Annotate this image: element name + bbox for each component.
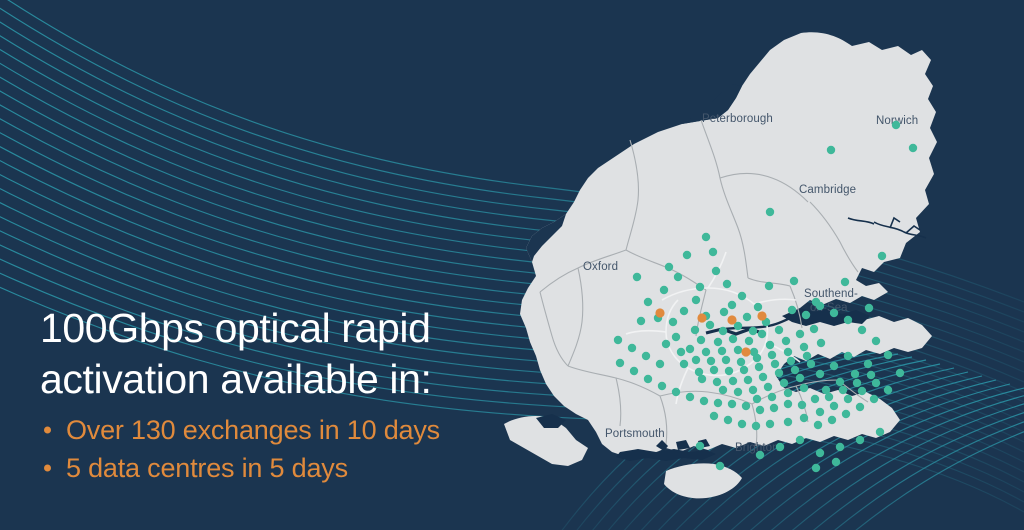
exchange-marker [738,292,746,300]
exchange-marker [644,375,652,383]
exchange-marker [710,412,718,420]
exchange-marker [817,339,825,347]
exchange-marker [844,395,852,403]
exchange-marker [796,436,804,444]
exchange-marker [766,208,774,216]
exchange-marker [749,327,757,335]
exchange-marker [858,387,866,395]
exchange-marker [800,414,808,422]
list-item-label: 5 data centres in 5 days [66,453,348,483]
exchange-marker [753,354,761,362]
exchange-marker [722,356,730,364]
exchange-marker [706,321,714,329]
exchange-marker [742,402,750,410]
datacentre-marker [727,315,736,324]
exchange-marker [702,233,710,241]
exchange-marker [800,384,808,392]
exchange-marker [737,358,745,366]
exchange-marker [839,386,847,394]
exchange-marker [800,343,808,351]
exchange-marker [884,386,892,394]
list-item: Over 130 exchanges in 10 days [40,411,510,449]
exchange-marker [825,393,833,401]
exchange-marker [784,348,792,356]
exchange-marker [700,397,708,405]
exchange-marker [876,428,884,436]
exchange-marker [656,360,664,368]
exchange-marker [803,352,811,360]
exchange-marker [686,345,694,353]
exchange-marker [698,375,706,383]
benefit-list: Over 130 exchanges in 10 days 5 data cen… [40,411,510,488]
exchange-marker [729,377,737,385]
exchange-marker [780,379,788,387]
uk-south-east-map: Peterborough Norwich Cambridge Oxford So… [470,0,1024,530]
datacentre-marker [697,313,706,322]
exchange-marker [744,376,752,384]
exchange-marker [892,121,900,129]
exchange-marker [856,436,864,444]
exchange-marker [807,360,815,368]
exchange-marker [816,449,824,457]
exchange-marker [764,383,772,391]
exchange-marker [766,341,774,349]
exchange-marker [768,351,776,359]
exchange-marker [616,359,624,367]
exchange-marker [658,382,666,390]
exchange-marker [734,346,742,354]
exchange-marker [828,416,836,424]
exchange-marker [709,248,717,256]
land-isle-of-wight [664,463,742,498]
exchange-marker [702,348,710,356]
exchange-marker [798,401,806,409]
map-label-southend: Southend- [804,288,858,300]
exchange-marker [738,420,746,428]
exchange-marker [770,404,778,412]
exchange-marker [814,421,822,429]
exchange-marker [810,325,818,333]
exchange-marker [745,337,753,345]
exchange-marker [844,316,852,324]
exchange-marker [752,422,760,430]
exchange-marker [864,360,872,368]
exchange-marker [628,344,636,352]
exchange-marker [811,395,819,403]
exchange-marker [865,304,873,312]
exchange-marker [784,400,792,408]
exchange-marker [743,313,751,321]
exchange-marker [660,286,668,294]
exchange-marker [768,393,776,401]
map-label-portsmouth: Portsmouth [605,428,665,440]
exchange-marker [816,370,824,378]
exchange-marker [734,388,742,396]
exchange-marker [723,280,731,288]
exchange-marker [766,420,774,428]
exchange-marker [692,356,700,364]
exchange-marker [842,410,850,418]
exchange-marker [796,330,804,338]
promo-copy-block: 100Gbps optical rapid activation availab… [40,303,510,487]
exchange-marker [782,337,790,345]
exchange-marker [830,362,838,370]
exchange-marker [755,363,763,371]
exchange-marker [630,367,638,375]
exchange-marker [771,360,779,368]
exchange-marker [718,347,726,355]
exchange-marker [858,326,866,334]
map-label-cambridge: Cambridge [799,184,856,196]
exchange-marker [754,303,762,311]
exchange-marker [644,298,652,306]
exchange-marker [637,317,645,325]
exchange-marker [816,302,824,310]
exchange-marker [697,336,705,344]
exchange-marker [680,307,688,315]
exchange-marker [710,366,718,374]
exchange-marker [686,393,694,401]
promo-banner: Peterborough Norwich Cambridge Oxford So… [0,0,1024,530]
exchange-marker [878,252,886,260]
map-label-peterborough: Peterborough [702,113,773,125]
exchange-marker [867,371,875,379]
exchange-marker [884,351,892,359]
exchange-marker [674,273,682,281]
exchange-marker [758,330,766,338]
exchange-marker [719,327,727,335]
exchange-marker [725,367,733,375]
bullet-dot-icon [44,465,51,472]
exchange-marker [756,451,764,459]
exchange-marker [765,282,773,290]
exchange-marker [816,408,824,416]
exchange-marker [830,309,838,317]
exchange-marker [787,357,795,365]
exchange-marker [707,357,715,365]
exchange-marker [851,370,859,378]
exchange-marker [728,400,736,408]
exchange-marker [677,348,685,356]
exchange-marker [753,395,761,403]
exchange-marker [909,144,917,152]
list-item: 5 data centres in 5 days [40,449,510,487]
exchange-marker [749,386,757,394]
exchange-marker [841,278,849,286]
map-landmass [504,32,937,498]
exchange-marker [784,418,792,426]
exchange-marker [713,378,721,386]
exchange-marker [776,443,784,451]
exchange-marker [836,443,844,451]
exchange-marker [788,306,796,314]
list-item-label: Over 130 exchanges in 10 days [66,415,440,445]
exchange-marker [714,399,722,407]
exchange-marker [714,338,722,346]
datacentre-marker [655,308,664,317]
exchange-marker [775,369,783,377]
exchange-marker [812,464,820,472]
exchange-marker [872,379,880,387]
datacentre-marker [741,347,750,356]
exchange-marker [784,389,792,397]
exchange-marker [719,386,727,394]
bullet-dot-icon [44,426,51,433]
exchange-marker [791,366,799,374]
exchange-marker [672,333,680,341]
map-label-brighton: Brighton [735,442,779,454]
exchange-marker [796,374,804,382]
exchange-marker [759,373,767,381]
exchange-marker [633,273,641,281]
exchange-marker [680,360,688,368]
exchange-marker [830,402,838,410]
exchange-marker [662,340,670,348]
exchange-marker [614,336,622,344]
exchange-marker [728,301,736,309]
exchange-marker [775,326,783,334]
exchange-marker [712,267,720,275]
exchange-marker [696,442,704,450]
exchange-marker [724,416,732,424]
exchange-marker [802,311,810,319]
exchange-marker [836,378,844,386]
exchange-marker [844,352,852,360]
exchange-marker [740,366,748,374]
exchange-marker [720,308,728,316]
exchange-marker [696,283,704,291]
exchange-marker [672,388,680,396]
exchange-marker [642,352,650,360]
exchange-marker [856,403,864,411]
exchange-marker [853,379,861,387]
exchange-marker [872,337,880,345]
exchange-marker [683,251,691,259]
exchange-marker [716,462,724,470]
exchange-marker [665,263,673,271]
page-title: 100Gbps optical rapid activation availab… [40,303,510,405]
exchange-marker [827,146,835,154]
exchange-marker [756,406,764,414]
exchange-marker [790,277,798,285]
exchange-marker [692,296,700,304]
exchange-marker [729,335,737,343]
exchange-marker [870,395,878,403]
exchange-marker [669,318,677,326]
exchange-marker [832,458,840,466]
exchange-marker [691,326,699,334]
exchange-marker [896,369,904,377]
datacentre-marker [757,311,766,320]
map-label-oxford: Oxford [583,261,618,273]
